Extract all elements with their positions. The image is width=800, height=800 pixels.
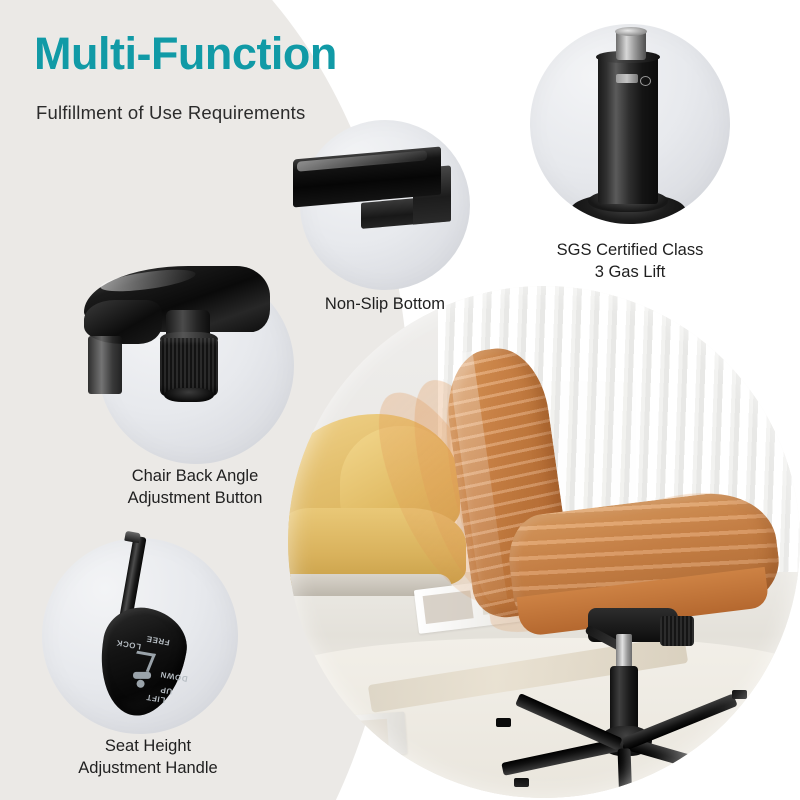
back-angle-support-tube [88,336,122,394]
chair-base-leg [618,748,633,798]
magazine-page [288,725,335,754]
page-subtitle: Fulfillment of Use Requirements [36,102,305,124]
chair-foot-pad [746,772,761,781]
person-head [136,679,145,688]
gas-lift-label-mark [616,74,638,83]
hero-product-photo [288,286,800,798]
callout-bubble-gas-lift [530,24,730,224]
person-torso [133,672,151,679]
caption-seat-height: Seat Height Adjustment Handle [28,736,268,780]
gas-lift-piston-cap [615,27,647,36]
seat-height-paddle-lever-icon: LOCK FREE UP LIFT DOWN [42,524,242,739]
caption-gas-lift: SGS Certified Class 3 Gas Lift [520,240,740,284]
magazine-page [341,719,389,750]
person-legs [130,651,156,672]
chair-angle-knob [660,616,694,646]
knurled-adjustment-knob-icon [60,262,300,467]
caption-back-angle: Chair Back Angle Adjustment Button [85,466,305,510]
page-title: Multi-Function [34,28,337,80]
chair-foot-pad [732,690,747,699]
chair-gas-lift-chrome [616,634,632,670]
gas-lift-cylinder-icon [530,24,730,224]
back-angle-knob-cap [164,388,214,402]
non-slip-foot-pad-icon [285,120,485,290]
chair-foot-pad [496,718,511,727]
handle-rod-tip [124,531,141,543]
chair-foot-pad [514,778,529,787]
caption-non-slip: Non-Slip Bottom [295,294,475,316]
infographic-canvas: Multi-Function Fulfillment of Use Requir… [0,0,800,800]
gas-lift-stamp-mark [640,76,651,86]
